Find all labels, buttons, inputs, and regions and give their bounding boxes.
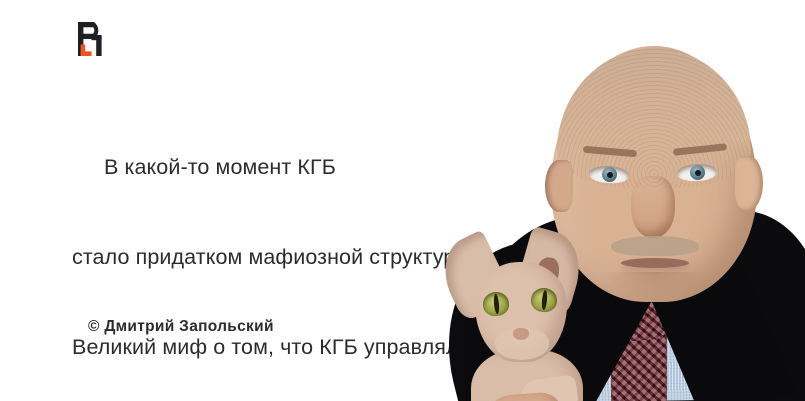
ear-left bbox=[545, 160, 573, 212]
cat-nose bbox=[513, 328, 529, 340]
iris-right bbox=[690, 165, 706, 181]
ear-right bbox=[735, 156, 763, 210]
nose bbox=[631, 176, 675, 238]
iris-left bbox=[602, 167, 618, 183]
quote-attribution: © Дмитрий Запольский bbox=[88, 318, 274, 336]
chin-shadow bbox=[605, 272, 705, 298]
brand-logo-icon[interactable] bbox=[71, 18, 113, 60]
mouth bbox=[621, 258, 689, 268]
sphynx-cat bbox=[439, 232, 609, 401]
moustache bbox=[611, 236, 699, 256]
subject-photo bbox=[425, 0, 805, 401]
logo-accent-mark bbox=[81, 45, 92, 57]
scalp bbox=[557, 48, 751, 188]
quote-card: В какой-то момент КГБ стало придатком ма… bbox=[0, 0, 805, 401]
